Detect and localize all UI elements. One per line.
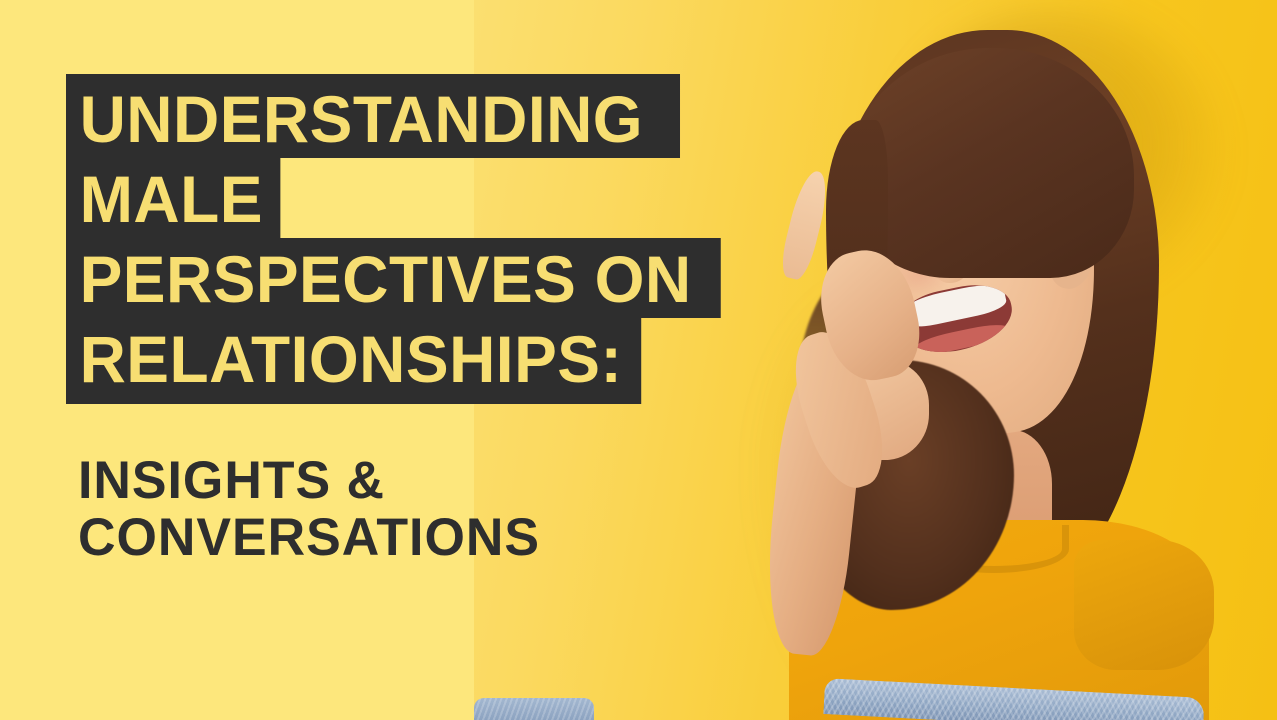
thumbnail-canvas: UNDERSTANDING MALE PERSPECTIVES ON RELAT… [0, 0, 1277, 720]
subtitle: INSIGHTS & CONVERSATIONS [78, 452, 540, 566]
headline-line-3: PERSPECTIVES ON [66, 238, 721, 318]
jeans-left [474, 698, 594, 720]
subtitle-line-2: CONVERSATIONS [78, 509, 540, 566]
subtitle-line-1: INSIGHTS & [78, 452, 540, 509]
index-finger [777, 168, 833, 282]
headline-line-1: UNDERSTANDING [66, 74, 680, 158]
headline-line-4: RELATIONSHIPS: [66, 318, 642, 404]
tshirt-sleeve [1074, 540, 1214, 670]
headline-line-2: MALE [66, 158, 280, 238]
